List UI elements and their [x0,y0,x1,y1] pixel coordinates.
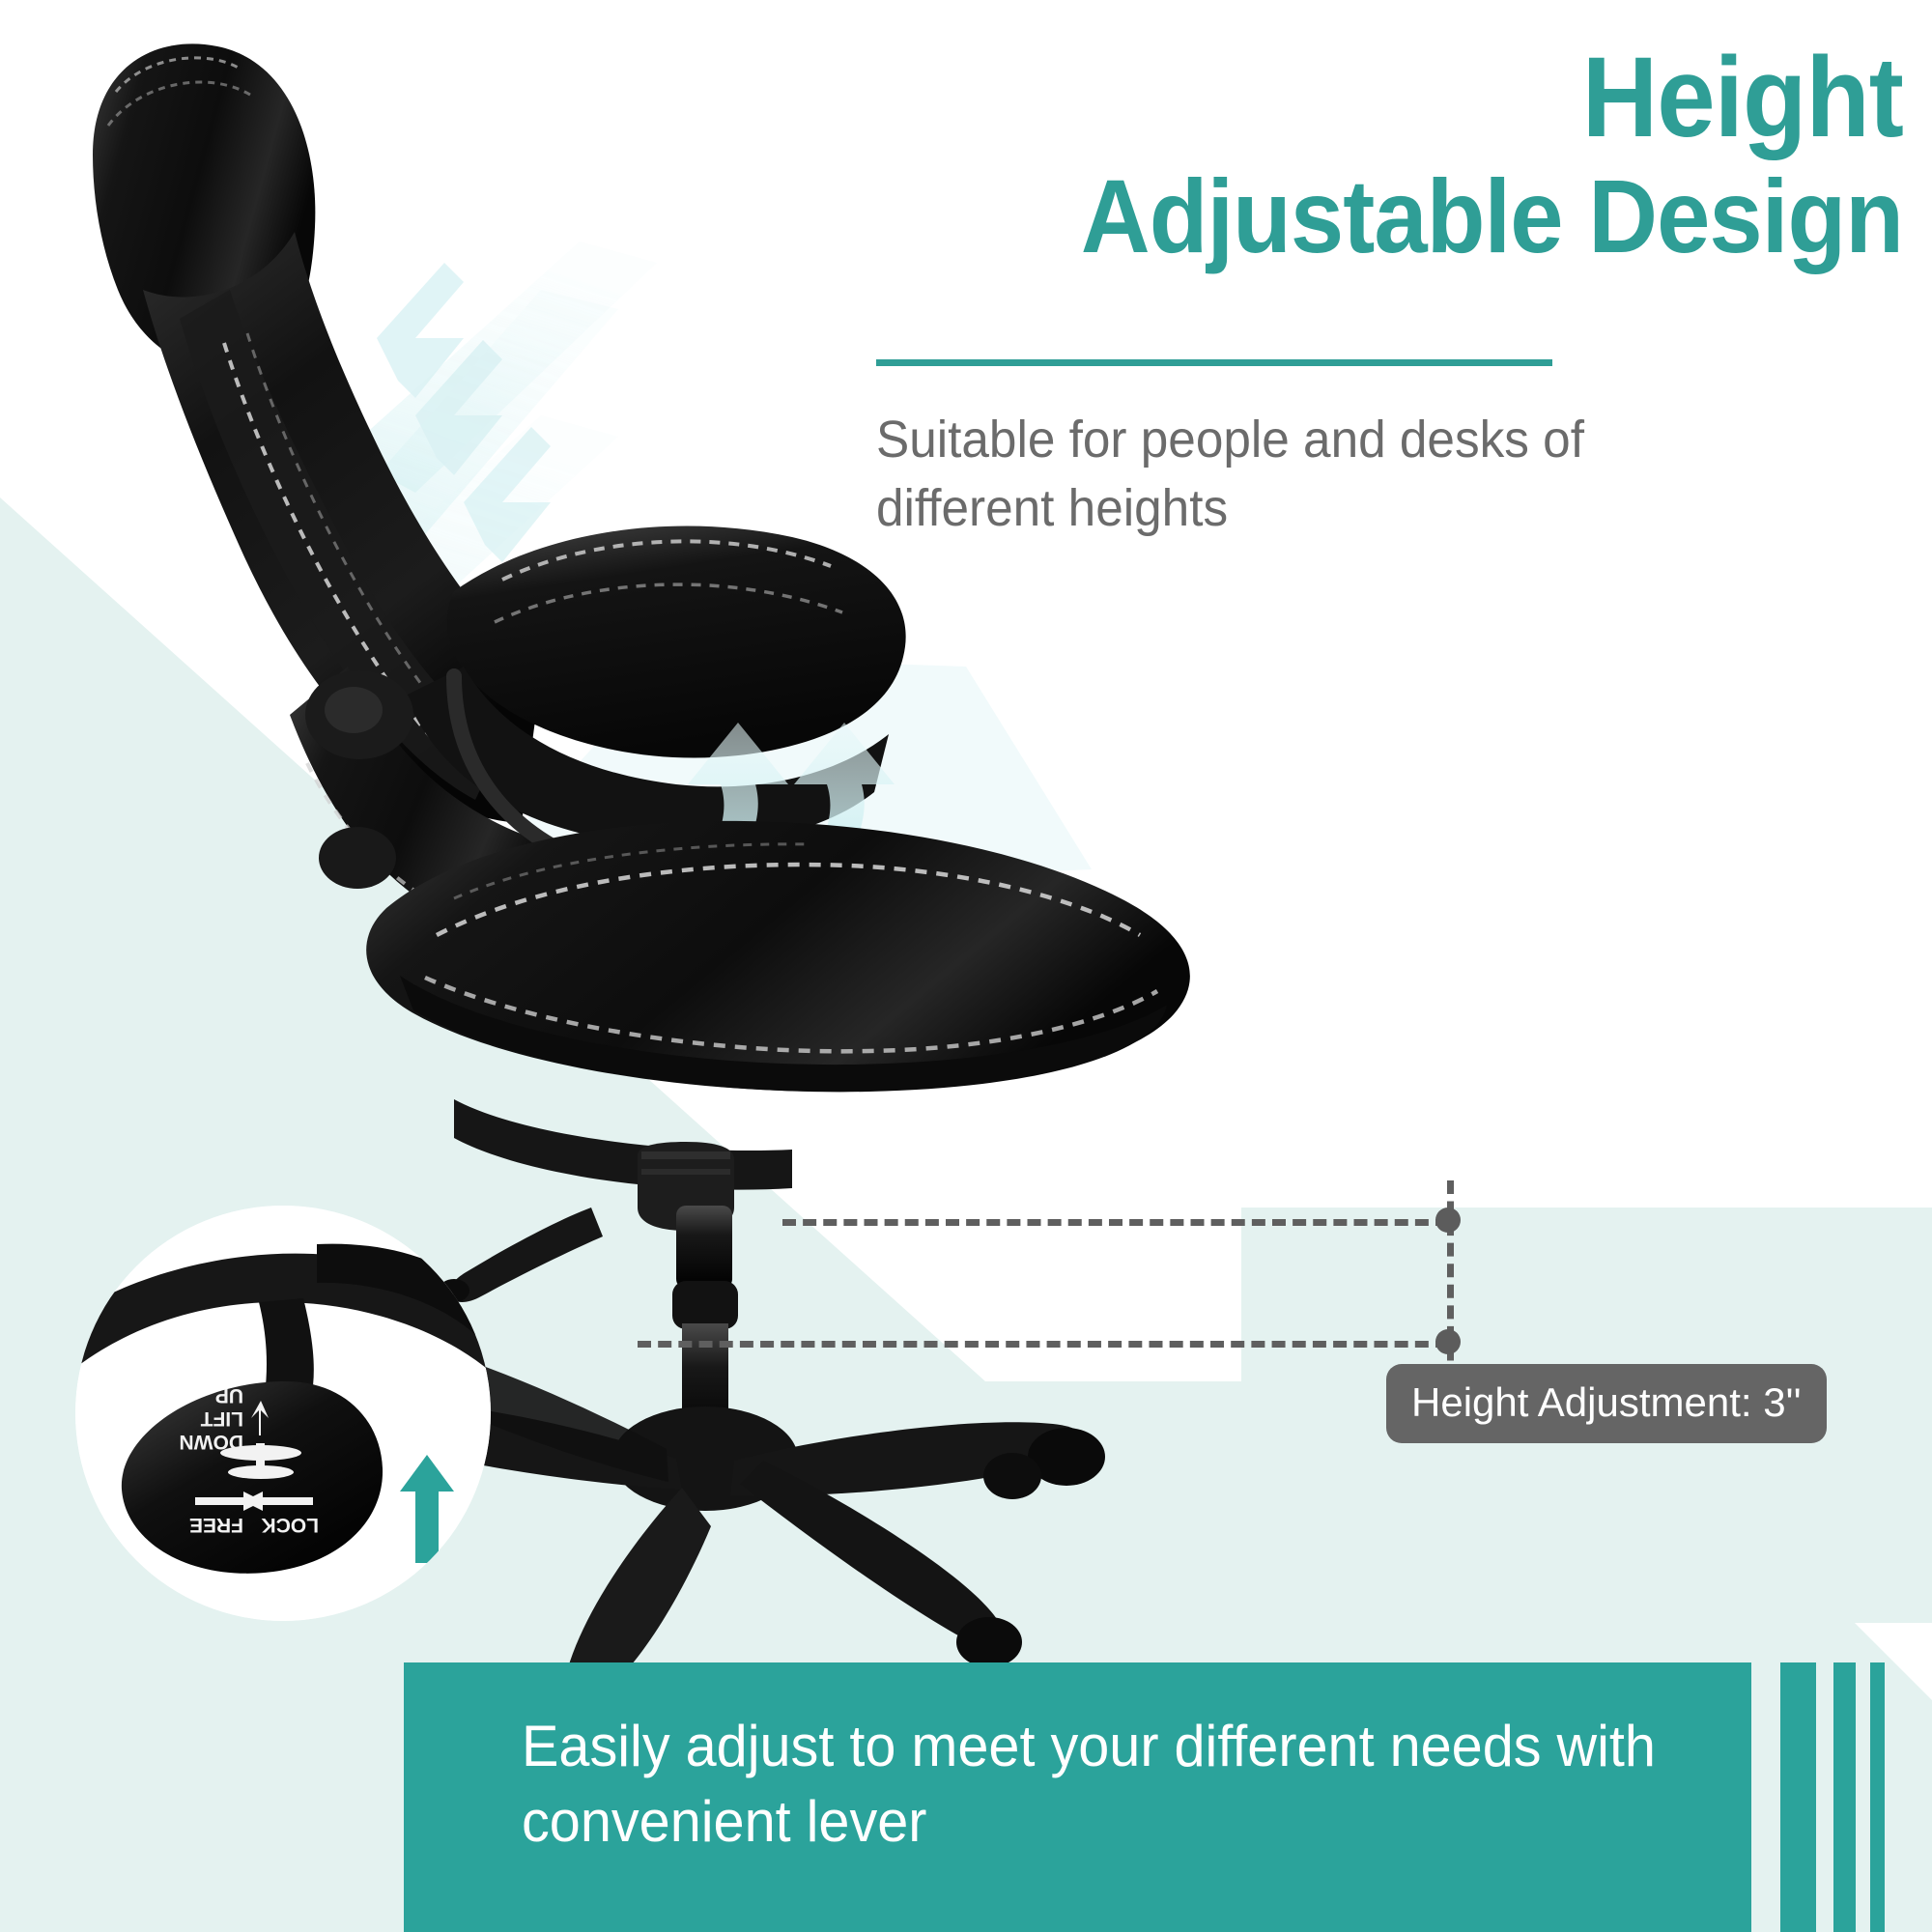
bottom-banner: Easily adjust to meet your different nee… [404,1662,1751,1932]
lever-label-up: UP [215,1384,243,1406]
lever-detail-inset: LOCK FREE DOWN LIFT UP [75,1206,491,1621]
lever-label-lift: LIFT [201,1407,243,1430]
lever-label-lock: LOCK [262,1514,320,1536]
height-adjustment-badge: Height Adjustment: 3'' [1386,1364,1827,1443]
subheading-text: Suitable for people and desks of differe… [876,406,1757,544]
measure-dot-top-icon [1435,1207,1461,1233]
height-adjustment-badge-label: Height Adjustment: 3'' [1411,1379,1802,1425]
banner-accent-bar-3 [1870,1662,1885,1932]
headline-block: Height Adjustable Design [850,39,1903,275]
product-feature-banner: Height Adjustment: 3'' LOCK FREE [0,0,1932,1932]
measure-line-top [782,1219,1449,1226]
bottom-banner-text: Easily adjust to meet your different nee… [522,1709,1662,1860]
headline-line-1: Height [934,39,1903,158]
headline-line-2: Adjustable Design [934,158,1903,275]
measure-line-bottom [638,1341,1449,1348]
lever-label-free: FREE [189,1514,243,1536]
banner-accent-bar-1 [1780,1662,1816,1932]
lever-detail-image: LOCK FREE DOWN LIFT UP [75,1206,491,1621]
headline-divider [876,359,1552,366]
measure-dot-bottom-icon [1435,1329,1461,1354]
banner-accent-bar-2 [1833,1662,1856,1932]
